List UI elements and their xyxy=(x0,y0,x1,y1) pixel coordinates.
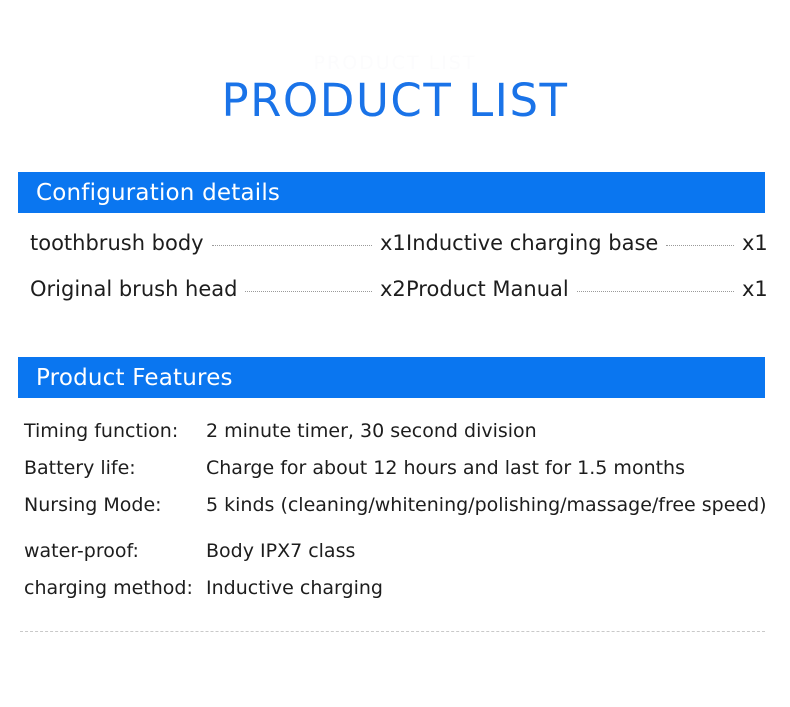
config-item-name: Original brush head xyxy=(30,274,237,304)
dot-leader xyxy=(666,244,734,246)
config-row: toothbrush body x1 Inductive charging ba… xyxy=(18,228,768,274)
config-item-name: Inductive charging base xyxy=(406,228,658,258)
config-item-name: Product Manual xyxy=(406,274,569,304)
feature-value: Body IPX7 class xyxy=(206,538,773,564)
dot-leader xyxy=(212,244,372,246)
feature-value: 5 kinds (cleaning/whitening/polishing/ma… xyxy=(206,492,773,518)
page-title: PRODUCT LIST xyxy=(0,72,790,130)
feature-label: charging method: xyxy=(18,575,206,601)
feature-row-water-proof: water-proof: Body IPX7 class xyxy=(18,538,773,575)
config-item-qty: x1 xyxy=(380,228,406,258)
config-item-inductive-charging-base: Inductive charging base x1 xyxy=(406,228,768,258)
feature-row-battery-life: Battery life: Charge for about 12 hours … xyxy=(18,455,773,492)
feature-label: water-proof: xyxy=(18,538,206,564)
features-list: Timing function: 2 minute timer, 30 seco… xyxy=(18,418,773,612)
bottom-dashed-divider xyxy=(20,631,765,632)
configuration-items: toothbrush body x1 Inductive charging ba… xyxy=(18,228,768,320)
feature-label: Nursing Mode: xyxy=(18,492,206,518)
config-item-toothbrush-body: toothbrush body x1 xyxy=(18,228,406,258)
watermark-text: PRODUCT LIST xyxy=(0,52,790,74)
config-item-original-brush-head: Original brush head x2 xyxy=(18,274,406,304)
section-header-product-features: Product Features xyxy=(18,357,765,398)
feature-value: Charge for about 12 hours and last for 1… xyxy=(206,455,773,481)
feature-value: Inductive charging xyxy=(206,575,773,601)
feature-row-nursing-mode: Nursing Mode: 5 kinds (cleaning/whitenin… xyxy=(18,492,773,529)
dot-leader xyxy=(577,290,734,292)
section-header-label: Configuration details xyxy=(18,180,280,206)
feature-value: 2 minute timer, 30 second division xyxy=(206,418,773,444)
product-list-page: PRODUCT LIST PRODUCT LIST Configuration … xyxy=(0,0,790,707)
dot-leader xyxy=(245,290,372,292)
config-row: Original brush head x2 Product Manual x1 xyxy=(18,274,768,320)
feature-label: Timing function: xyxy=(18,418,206,444)
config-item-qty: x1 xyxy=(742,228,768,258)
section-header-configuration-details: Configuration details xyxy=(18,172,765,213)
feature-label: Battery life: xyxy=(18,455,206,481)
config-item-name: toothbrush body xyxy=(30,228,204,258)
feature-row-timing-function: Timing function: 2 minute timer, 30 seco… xyxy=(18,418,773,455)
config-item-product-manual: Product Manual x1 xyxy=(406,274,768,304)
feature-row-charging-method: charging method: Inductive charging xyxy=(18,575,773,612)
section-header-label: Product Features xyxy=(18,365,233,391)
config-item-qty: x1 xyxy=(742,274,768,304)
config-item-qty: x2 xyxy=(380,274,406,304)
